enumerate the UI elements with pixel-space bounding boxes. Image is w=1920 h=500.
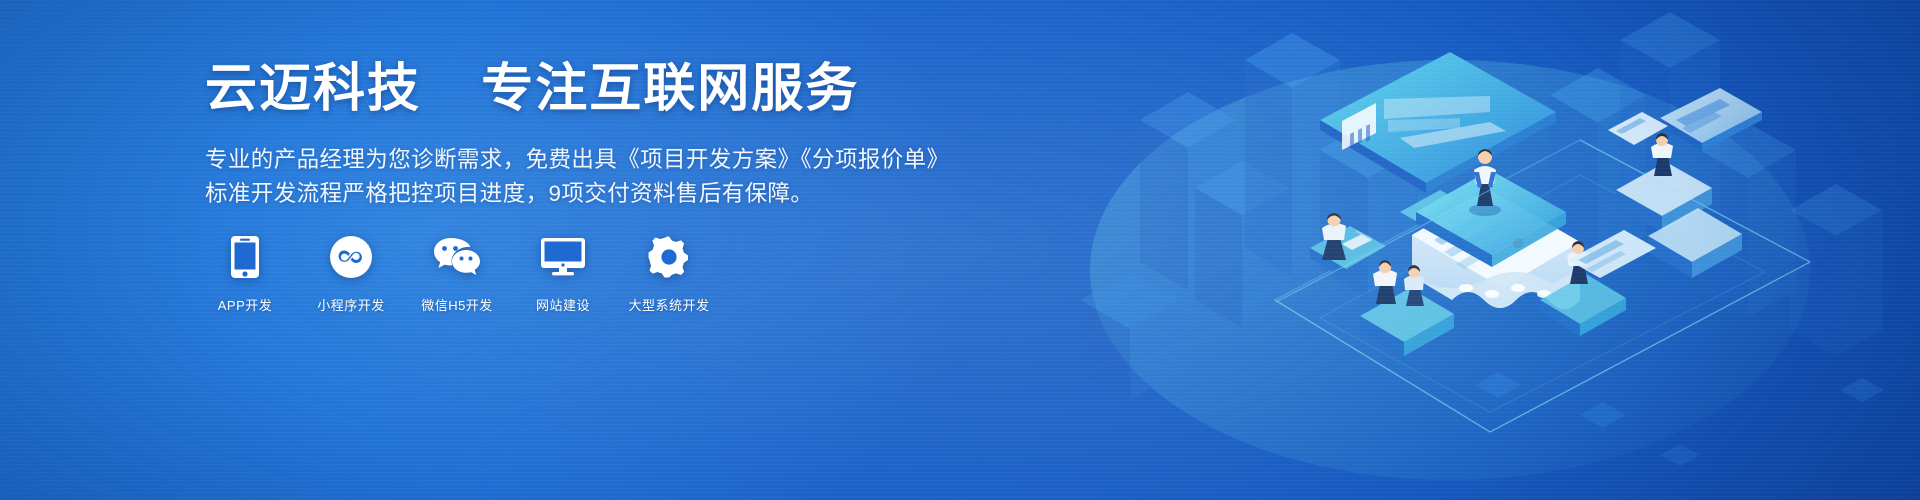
headline-tagline: 专注互联网服务: [481, 59, 859, 119]
banner-copy: 云迈科技 专注互联网服务 专业的产品经理为您诊断需求，免费出具《项目开发方案》《…: [205, 62, 925, 211]
mini-program-icon: [329, 234, 373, 280]
subtitle-line-2: 标准开发流程严格把控项目进度，9项交付资料售后有保障。: [205, 177, 925, 211]
service-item-app[interactable]: APP开发: [205, 234, 285, 314]
service-item-mini-program[interactable]: 小程序开发: [311, 234, 391, 314]
promo-banner: 云迈科技 专注互联网服务 专业的产品经理为您诊断需求，免费出具《项目开发方案》《…: [0, 0, 1920, 500]
page-title: 云迈科技 专注互联网服务: [205, 62, 925, 117]
mobile-phone-icon: [230, 234, 260, 280]
subtitle-line-1: 专业的产品经理为您诊断需求，免费出具《项目开发方案》《分项报价单》: [205, 147, 949, 172]
gear-icon: [647, 234, 691, 280]
banner-subtitle: 专业的产品经理为您诊断需求，免费出具《项目开发方案》《分项报价单》 标准开发流程…: [205, 143, 925, 211]
isometric-tech-illustration: [1020, 0, 1920, 500]
service-label: 网站建设: [536, 295, 590, 314]
monitor-icon: [540, 234, 586, 280]
service-icon-row: APP开发 小程序开发 微信: [205, 234, 709, 314]
wechat-icon: [432, 234, 482, 280]
service-item-website[interactable]: 网站建设: [523, 234, 603, 314]
service-label: APP开发: [218, 295, 273, 314]
service-label: 微信H5开发: [421, 295, 493, 314]
service-label: 小程序开发: [317, 295, 385, 314]
headline-brand: 云迈科技: [205, 59, 421, 119]
service-label: 大型系统开发: [629, 295, 710, 314]
service-item-large-system[interactable]: 大型系统开发: [629, 234, 709, 314]
service-item-wechat-h5[interactable]: 微信H5开发: [417, 234, 497, 314]
